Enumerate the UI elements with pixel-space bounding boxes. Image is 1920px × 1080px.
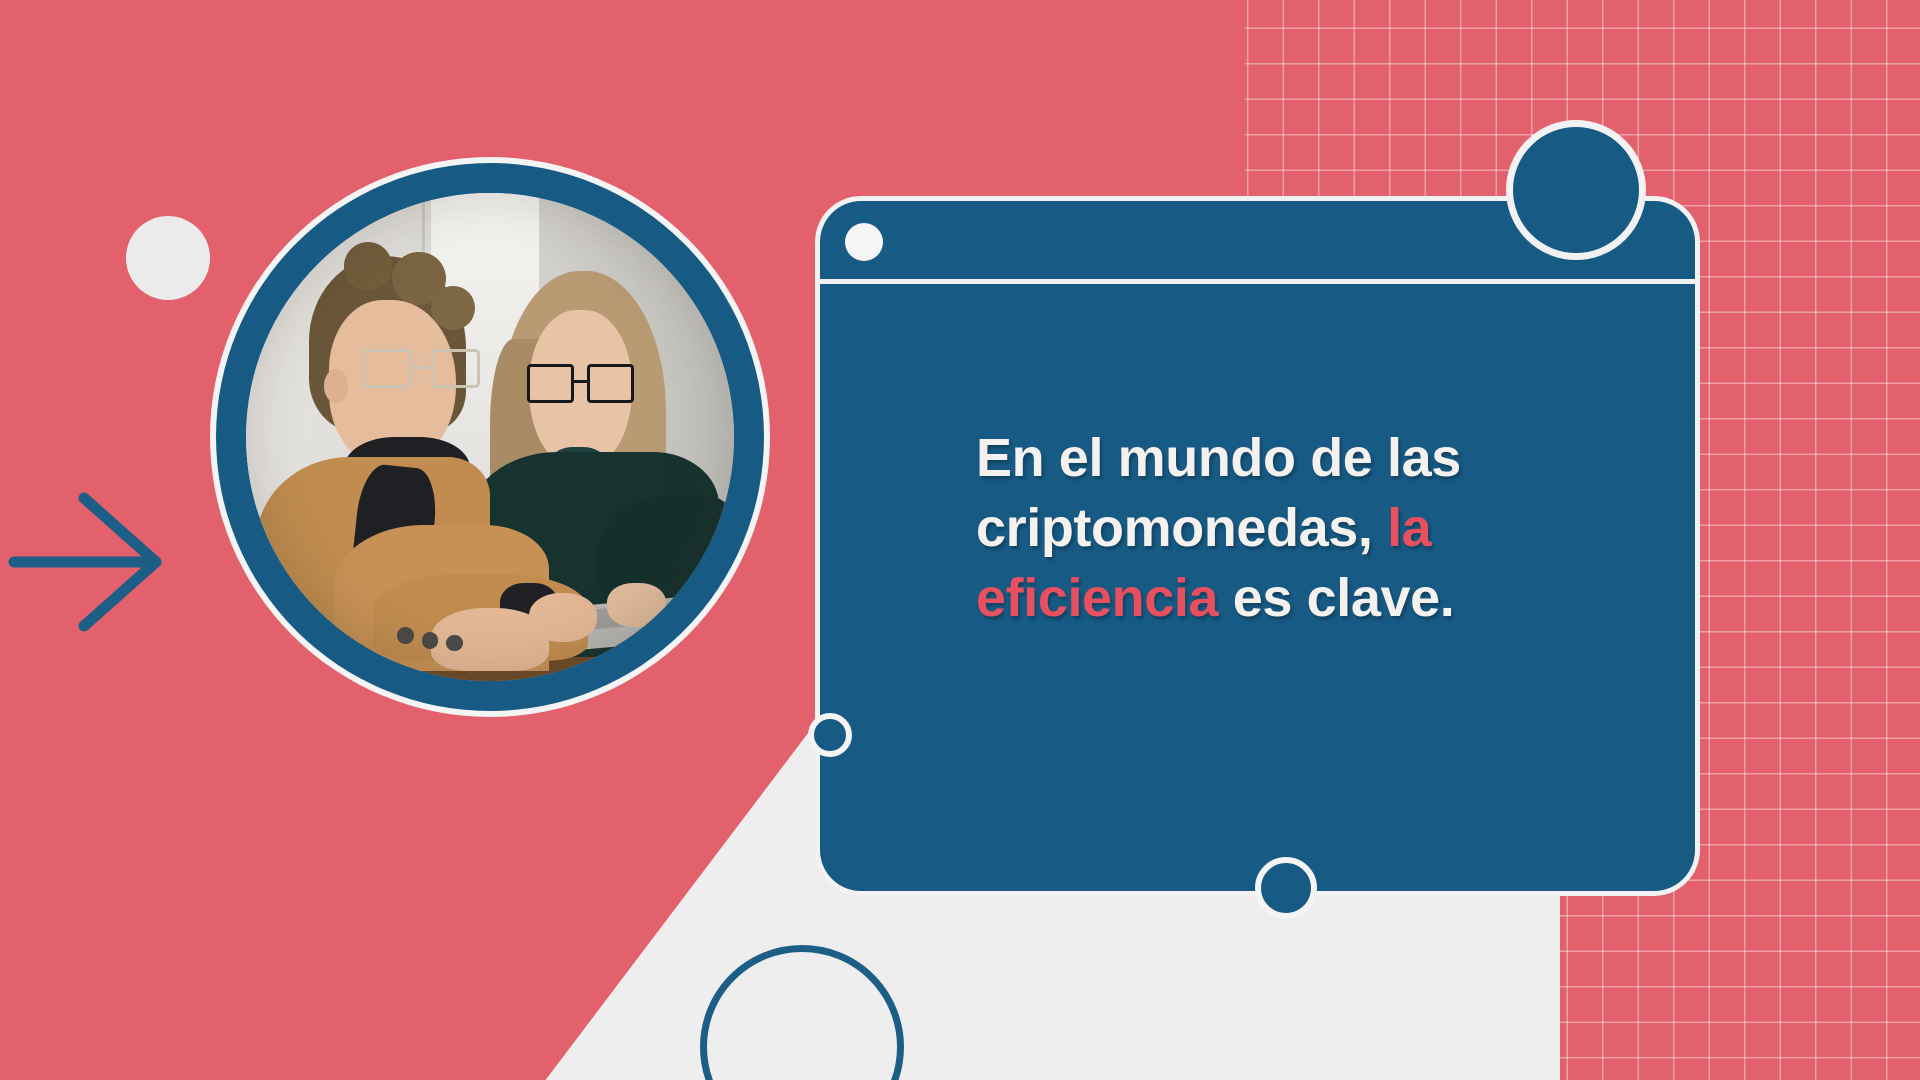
photo-frame-ring: [216, 163, 764, 711]
slide-canvas: En el mundo de las criptomonedas, la efi…: [0, 0, 1920, 1080]
window-dot-icon: [845, 223, 883, 261]
photo-frame: [210, 157, 770, 717]
quote-line-2-plain: criptomonedas,: [976, 498, 1387, 558]
arrow-right-icon: [6, 484, 176, 644]
photo-image: [246, 193, 734, 681]
quote-line-3-plain: es clave.: [1218, 568, 1454, 628]
card-header-divider: [820, 279, 1695, 284]
decorative-circle-bottom: [1255, 857, 1317, 919]
quote-line-3-highlight: eficiencia: [976, 568, 1218, 628]
quote-card: En el mundo de las criptomonedas, la efi…: [815, 196, 1700, 896]
decorative-ring-left-small: [808, 713, 852, 757]
decorative-circle-top-left: [126, 216, 210, 300]
quote-text: En el mundo de las criptomonedas, la efi…: [976, 423, 1656, 634]
quote-line-2-highlight: la: [1387, 498, 1431, 558]
decorative-circle-top-right: [1506, 120, 1646, 260]
quote-line-1: En el mundo de las: [976, 428, 1461, 488]
